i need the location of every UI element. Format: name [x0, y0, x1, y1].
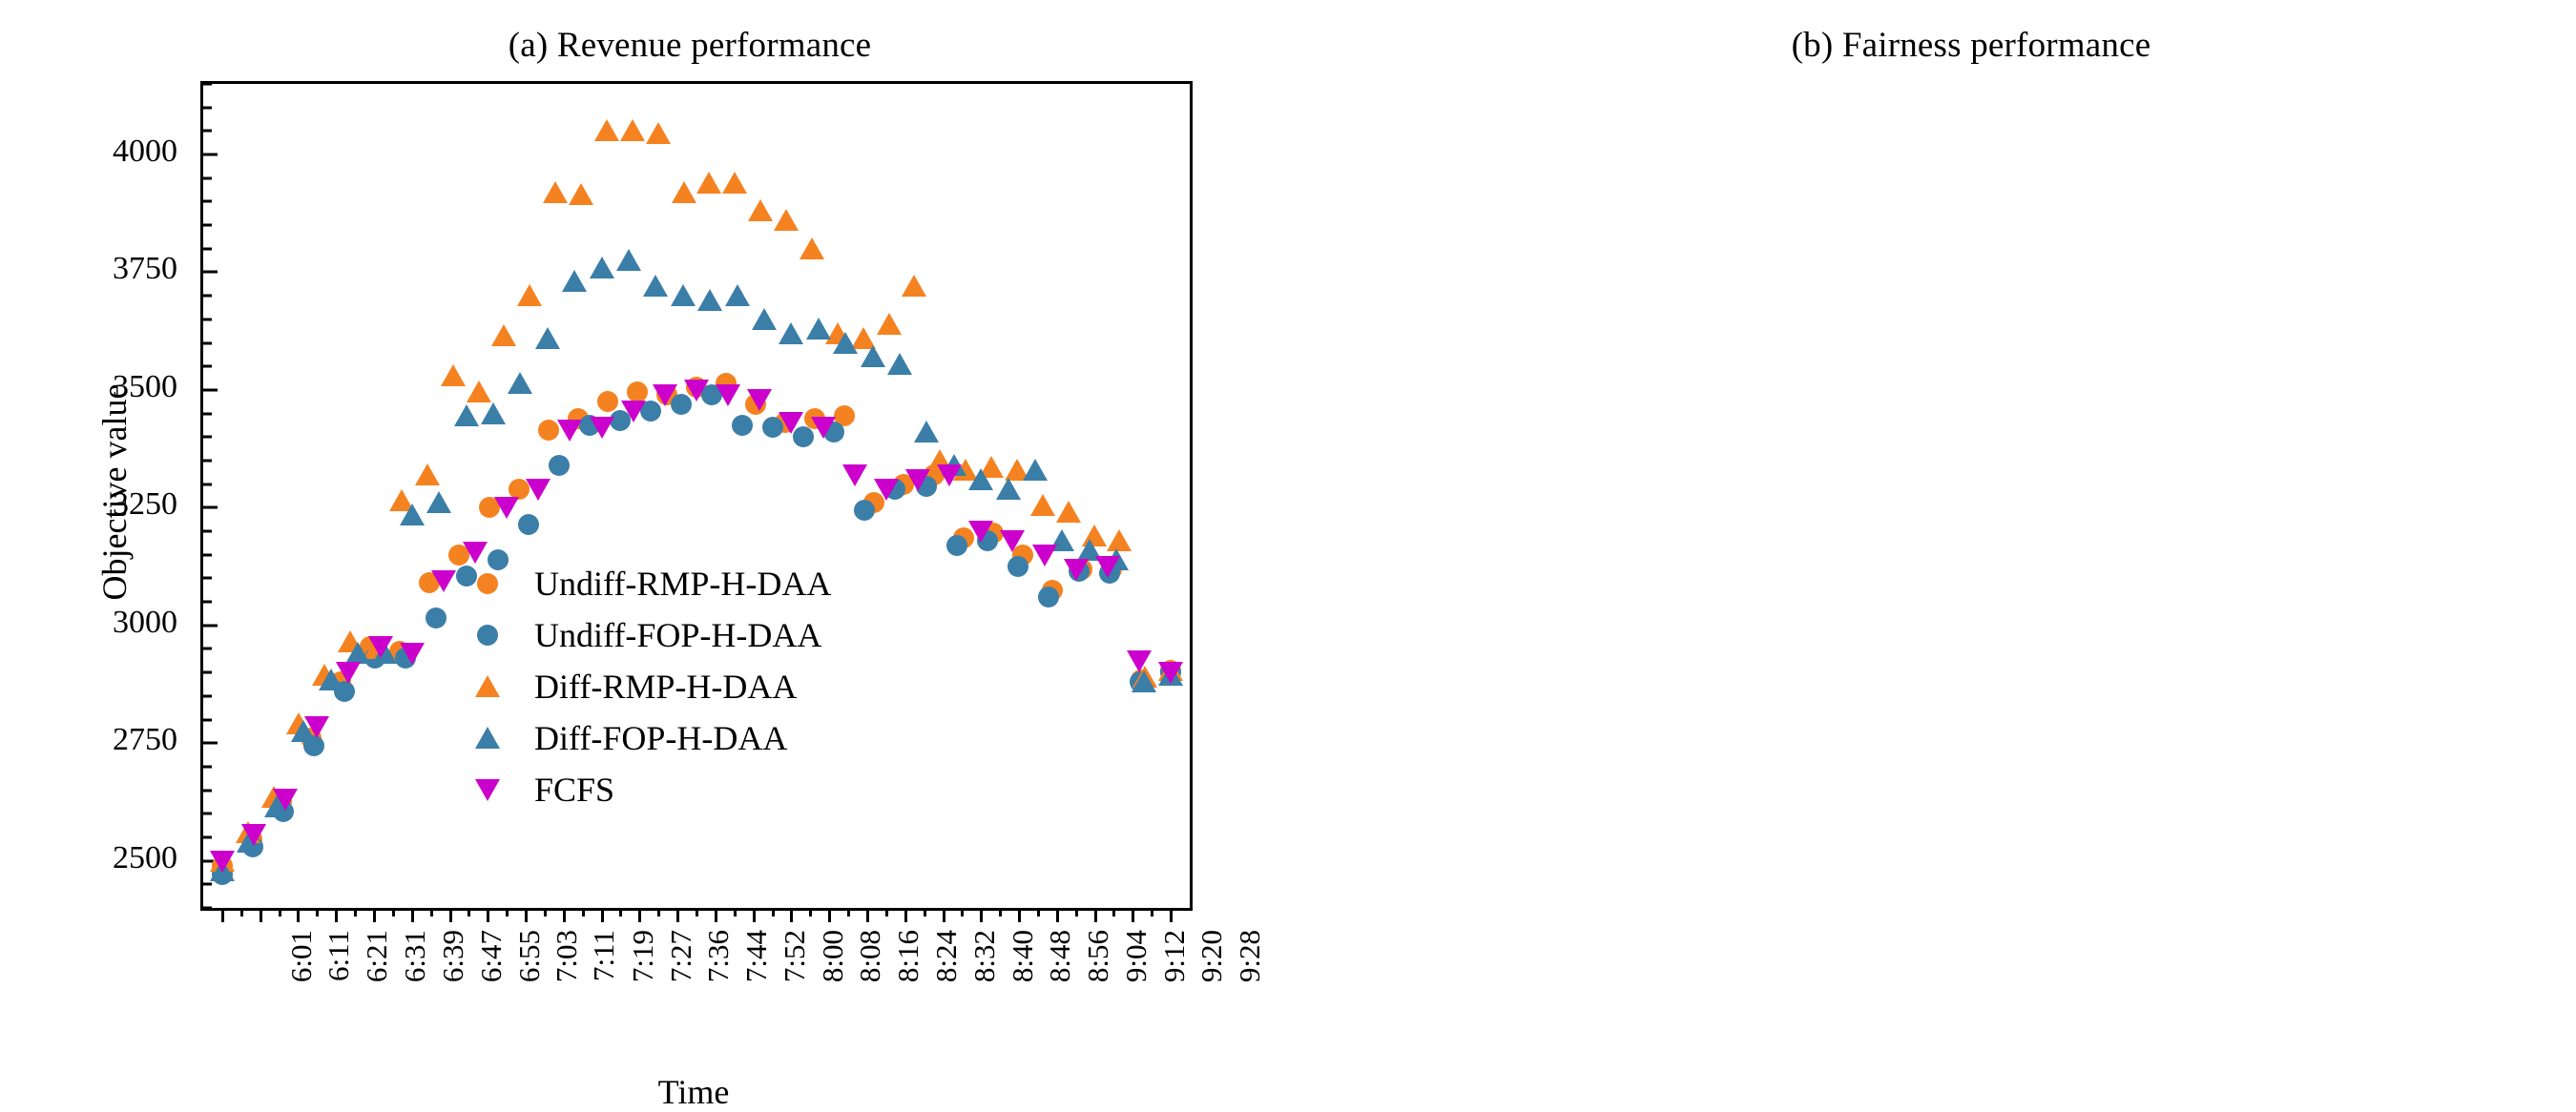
x-tick-label: 8:00 [816, 930, 850, 982]
y-tick-label: 0.30 [1288, 299, 2576, 335]
data-point [968, 468, 993, 490]
data-point [887, 353, 912, 375]
x-tick-major [1170, 908, 1173, 922]
data-point [748, 199, 773, 221]
data-point [590, 417, 614, 439]
x-tick-minor [847, 908, 850, 916]
y-tick-minor [203, 247, 212, 250]
y-tick-label: 3750 [0, 251, 177, 287]
data-point [1095, 556, 1120, 578]
legend-item-label: Undiff-FOP-H-DAA [534, 615, 821, 655]
x-tick-minor [809, 908, 812, 916]
x-tick-major [715, 908, 717, 922]
circle-glyph [477, 625, 498, 646]
x-tick-label: 7:36 [701, 930, 736, 982]
data-point [1064, 559, 1089, 581]
data-point [400, 504, 425, 525]
y-tick-label: 0.40 [1288, 110, 2576, 146]
data-point [1158, 662, 1183, 684]
x-tick-label: 8:48 [1043, 930, 1077, 982]
data-point [774, 209, 799, 231]
y-tick-label: 3000 [0, 605, 177, 641]
data-point [861, 345, 885, 367]
data-point [854, 500, 875, 521]
data-point [621, 401, 646, 422]
data-point [946, 535, 967, 556]
x-tick-label: 8:16 [891, 930, 925, 982]
x-tick-minor [316, 908, 319, 916]
x-tick-minor [354, 908, 357, 916]
data-point [877, 313, 902, 335]
x-tick-minor [619, 908, 622, 916]
x-tick-label: 9:28 [1233, 930, 1267, 982]
data-point [672, 181, 696, 203]
x-tick-minor [885, 908, 888, 916]
data-point [494, 497, 519, 519]
legend-item[interactable]: Diff-FOP-H-DAA [466, 712, 831, 764]
x-tick-label: 8:08 [854, 930, 888, 982]
panel-a-title: (a) Revenue performance [194, 25, 1186, 66]
triangle-up-glyph [475, 727, 500, 749]
data-point [518, 514, 539, 535]
x-tick-label: 8:24 [929, 930, 964, 982]
x-tick-minor [544, 908, 547, 916]
legend-item-label: FCFS [534, 770, 614, 810]
y-tick-label: 2750 [0, 722, 177, 758]
x-tick-major [221, 908, 224, 922]
y-tick-minor [203, 83, 212, 86]
x-tick-minor [240, 908, 243, 916]
y-tick-label: 2500 [0, 840, 177, 876]
x-tick-label: 7:11 [587, 930, 621, 981]
data-point [725, 284, 750, 306]
x-tick-major [828, 908, 831, 922]
x-tick-major [335, 908, 338, 922]
data-point [400, 643, 425, 665]
x-tick-minor [772, 908, 775, 916]
y-tick-label: 0.20 [1288, 487, 2576, 524]
x-tick-label: 9:12 [1157, 930, 1192, 982]
legend-item[interactable]: Undiff-RMP-H-DAA [466, 558, 831, 609]
data-point [1127, 650, 1152, 672]
data-point [806, 318, 831, 340]
data-point [562, 270, 587, 292]
y-tick-minor [203, 412, 212, 415]
x-tick-minor [696, 908, 698, 916]
x-tick-major [866, 908, 869, 922]
y-tick-minor [203, 176, 212, 179]
x-tick-major [1056, 908, 1059, 922]
data-point [716, 384, 740, 406]
x-tick-label: 6:01 [284, 930, 319, 982]
legend-item[interactable]: Undiff-FOP-H-DAA [466, 609, 831, 661]
x-tick-label: 8:56 [1081, 930, 1115, 982]
y-tick-label: 0.35 [1288, 204, 2576, 240]
data-point [526, 479, 551, 501]
x-tick-label: 9:20 [1195, 930, 1229, 982]
data-point [914, 421, 939, 443]
triangle-down-marker-icon [466, 773, 509, 806]
data-point [210, 851, 235, 873]
data-point [646, 122, 671, 144]
x-tick-minor [1112, 908, 1115, 916]
y-tick-label: 0.25 [1288, 393, 2576, 429]
data-point [732, 415, 753, 436]
legend-item[interactable]: Diff-RMP-H-DAA [466, 661, 831, 712]
y-tick-minor [203, 200, 212, 203]
circle-marker-icon [466, 619, 509, 651]
data-point [937, 464, 962, 486]
y-tick-minor [203, 765, 212, 768]
legend-item[interactable]: FCFS [466, 764, 831, 815]
y-tick-minor [203, 694, 212, 697]
data-point [426, 491, 451, 513]
data-point [684, 380, 709, 402]
data-point [996, 478, 1021, 500]
x-tick-minor [734, 908, 737, 916]
data-point [779, 322, 803, 344]
data-point [1056, 501, 1081, 523]
y-tick-minor [203, 130, 212, 133]
y-tick-minor [203, 483, 212, 485]
data-point [304, 716, 329, 738]
y-tick-minor [203, 648, 212, 650]
data-point [1000, 530, 1025, 552]
y-tick-major [203, 506, 218, 509]
x-tick-label: 6:47 [474, 930, 509, 982]
x-tick-minor [430, 908, 433, 916]
data-point [905, 469, 930, 491]
x-tick-major [904, 908, 907, 922]
data-point [671, 284, 696, 306]
data-point [800, 237, 824, 259]
triangle-up-glyph [475, 675, 500, 697]
x-tick-major [373, 908, 376, 922]
x-tick-major [525, 908, 528, 922]
circle-glyph [477, 573, 498, 594]
data-point [722, 172, 747, 194]
data-point [902, 275, 926, 297]
x-tick-label: 7:52 [778, 930, 812, 982]
x-tick-minor [582, 908, 585, 916]
triangle-down-glyph [475, 779, 500, 801]
data-point [549, 455, 570, 476]
data-point [491, 324, 516, 346]
y-tick-major [203, 271, 218, 274]
data-point [535, 327, 560, 349]
x-tick-major [563, 908, 566, 922]
y-tick-minor [203, 671, 212, 674]
x-tick-major [943, 908, 945, 922]
x-tick-label: 6:21 [361, 930, 395, 982]
data-point [594, 119, 619, 141]
y-tick-minor [203, 318, 212, 320]
y-tick-minor [203, 530, 212, 533]
data-point [336, 662, 361, 684]
data-point [627, 381, 648, 402]
x-tick-label: 6:39 [436, 930, 470, 982]
data-point [842, 464, 867, 486]
data-point [779, 412, 803, 434]
data-point [811, 417, 836, 439]
x-tick-major [297, 908, 300, 922]
data-point [597, 391, 618, 412]
x-tick-major [1132, 908, 1134, 922]
y-tick-major [203, 388, 218, 391]
x-tick-label: 7:44 [739, 930, 774, 982]
x-tick-major [487, 908, 489, 922]
x-tick-major [411, 908, 414, 922]
circle-marker-icon [466, 567, 509, 600]
triangle-up-marker-icon [466, 670, 509, 703]
y-tick-label: 3500 [0, 369, 177, 405]
x-tick-major [1094, 908, 1097, 922]
x-tick-minor [657, 908, 660, 916]
x-tick-minor [279, 908, 281, 916]
x-tick-major [449, 908, 452, 922]
y-tick-minor [203, 718, 212, 721]
x-tick-label: 7:27 [664, 930, 698, 982]
x-tick-major [638, 908, 641, 922]
panel-fairness-performance: (b) Fairness performance Gini coefficien… [1288, 0, 2576, 1087]
panel-a-legend: Undiff-RMP-H-DAAUndiff-FOP-H-DAADiff-RMP… [466, 558, 831, 815]
data-point [441, 364, 466, 386]
data-point [752, 308, 777, 330]
data-point [874, 479, 899, 501]
x-tick-label: 6:31 [398, 930, 432, 982]
data-point [557, 420, 582, 442]
x-tick-label: 8:40 [1006, 930, 1040, 982]
y-tick-minor [203, 224, 212, 227]
y-tick-label: 0.00 [1288, 864, 2576, 900]
legend-item-label: Diff-RMP-H-DAA [534, 667, 797, 707]
x-tick-minor [1075, 908, 1078, 916]
data-point [543, 181, 568, 203]
x-tick-minor [467, 908, 470, 916]
data-point [590, 257, 614, 278]
data-point [1132, 670, 1156, 692]
data-point [517, 284, 542, 306]
x-tick-label: 9:04 [1119, 930, 1153, 982]
y-tick-minor [203, 436, 212, 439]
data-point [1008, 556, 1028, 577]
y-tick-label: 3250 [0, 486, 177, 523]
legend-item-label: Undiff-RMP-H-DAA [534, 564, 831, 604]
y-tick-major [203, 624, 218, 627]
x-tick-major [980, 908, 983, 922]
data-point [968, 521, 993, 543]
data-point [345, 642, 370, 664]
x-tick-minor [999, 908, 1002, 916]
data-point [426, 607, 447, 628]
y-tick-minor [203, 601, 212, 604]
data-point [653, 384, 677, 406]
data-point [620, 119, 645, 141]
data-point [696, 172, 721, 194]
y-tick-label: 0.05 [1288, 770, 2576, 806]
x-tick-major [753, 908, 756, 922]
y-tick-label: 4000 [0, 134, 177, 170]
data-point [1023, 459, 1048, 481]
x-tick-major [790, 908, 793, 922]
panel-revenue-performance: (a) Revenue performance Objective value … [0, 0, 1288, 1087]
y-tick-minor [203, 459, 212, 462]
data-point [467, 381, 491, 402]
data-point [616, 249, 641, 271]
data-point [569, 183, 593, 205]
data-point [241, 824, 266, 846]
x-tick-minor [924, 908, 926, 916]
data-point [538, 420, 559, 441]
x-tick-minor [1151, 908, 1153, 916]
data-point [481, 402, 506, 424]
y-tick-minor [203, 295, 212, 298]
y-tick-major [203, 742, 218, 745]
panel-b-title: (b) Fairness performance [1475, 25, 2467, 66]
data-point [431, 570, 456, 592]
x-tick-major [1018, 908, 1021, 922]
y-tick-label: 0.15 [1288, 582, 2576, 618]
x-tick-major [601, 908, 604, 922]
x-tick-minor [961, 908, 964, 916]
x-tick-label: 6:55 [512, 930, 547, 982]
y-tick-major [203, 154, 218, 156]
y-tick-minor [203, 553, 212, 556]
data-point [1032, 545, 1057, 566]
figure-root: (a) Revenue performance Objective value … [0, 0, 2576, 1087]
data-point [454, 404, 479, 426]
data-point [747, 389, 772, 411]
data-point [697, 289, 722, 311]
y-tick-label: 0.10 [1288, 676, 2576, 712]
y-tick-minor [203, 341, 212, 344]
data-point [1038, 587, 1059, 607]
y-tick-minor [203, 883, 212, 886]
panel-a-xlabel: Time [200, 1072, 1187, 1112]
x-tick-label: 7:03 [550, 930, 584, 982]
y-tick-minor [203, 106, 212, 109]
x-tick-label: 8:32 [967, 930, 1002, 982]
y-tick-minor [203, 813, 212, 815]
data-point [1030, 494, 1055, 516]
x-tick-label: 7:19 [626, 930, 660, 982]
x-tick-minor [392, 908, 395, 916]
x-tick-minor [506, 908, 509, 916]
data-point [368, 636, 393, 658]
y-tick-minor [203, 835, 212, 838]
y-tick-minor [203, 577, 212, 580]
data-point [415, 463, 440, 485]
y-tick-minor [203, 365, 212, 368]
y-tick-minor [203, 907, 212, 910]
data-point [508, 372, 532, 394]
triangle-up-marker-icon [466, 722, 509, 754]
y-tick-minor [203, 789, 212, 792]
x-tick-label: 6:11 [322, 930, 356, 981]
data-point [833, 332, 858, 354]
x-tick-major [676, 908, 679, 922]
data-point [643, 275, 668, 297]
x-tick-major [260, 908, 262, 922]
x-tick-minor [1037, 908, 1040, 916]
legend-item-label: Diff-FOP-H-DAA [534, 718, 787, 758]
data-point [273, 789, 298, 811]
